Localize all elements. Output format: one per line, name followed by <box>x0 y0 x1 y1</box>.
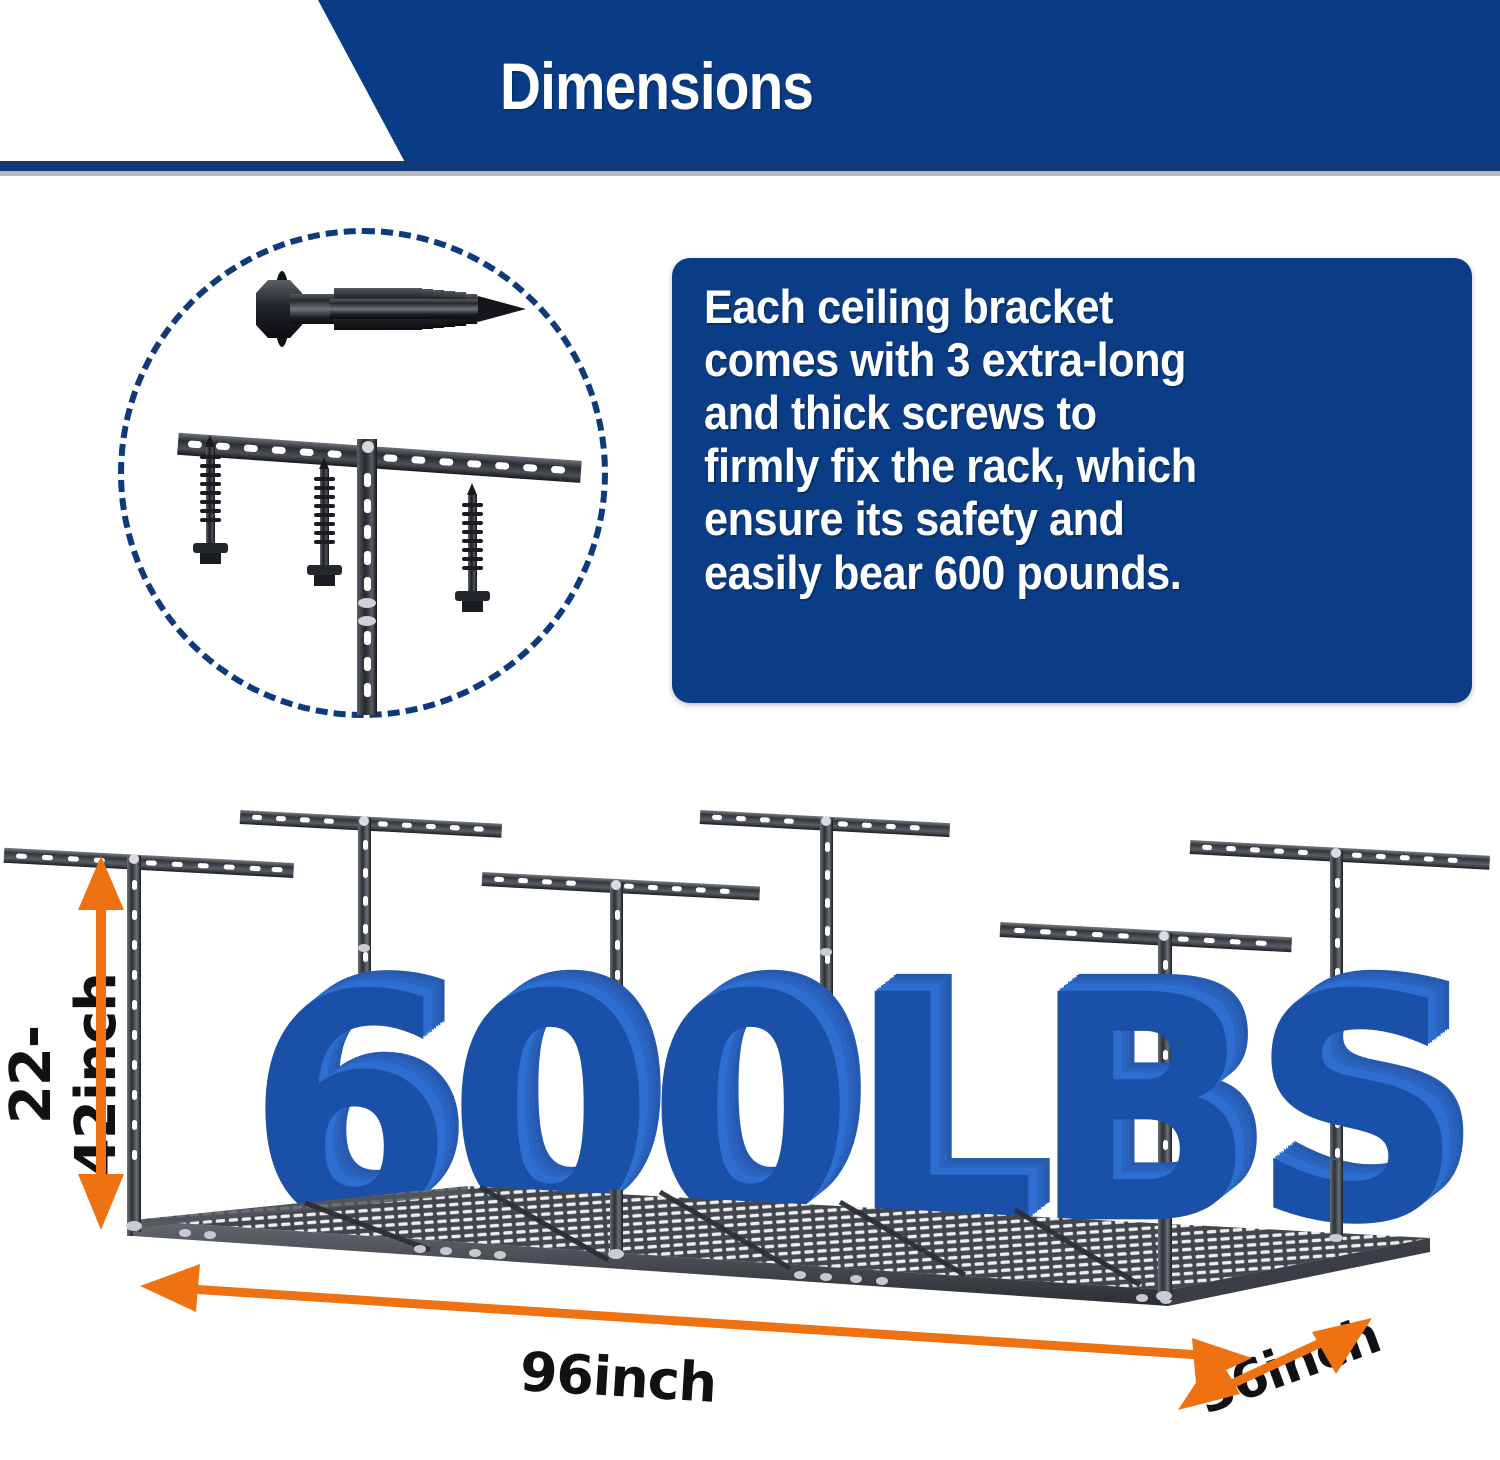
info-line: ensure its safety and <box>704 492 1383 545</box>
lag-screw-icon <box>250 268 530 350</box>
header-accent-bar <box>0 161 1500 171</box>
info-line: Each ceiling bracket <box>704 280 1383 333</box>
ceiling-bracket-assembly-icon <box>172 395 592 715</box>
product-illustration-stage: 600LBS <box>0 760 1500 1460</box>
info-line: and thick screws to <box>704 386 1383 439</box>
page-header: Dimensions <box>0 0 1500 180</box>
rack-deck-drawing <box>0 760 1500 1460</box>
info-line: firmly fix the rack, which <box>704 439 1383 492</box>
page-title: Dimensions <box>500 48 813 124</box>
info-callout-panel: Each ceiling bracket comes with 3 extra-… <box>672 258 1472 703</box>
info-line: comes with 3 extra-long <box>704 333 1383 386</box>
height-dimension-arrow <box>78 856 124 1230</box>
info-callout-text: Each ceiling bracket comes with 3 extra-… <box>704 280 1383 599</box>
info-line: easily bear 600 pounds. <box>704 546 1383 599</box>
header-gray-divider <box>0 171 1500 176</box>
